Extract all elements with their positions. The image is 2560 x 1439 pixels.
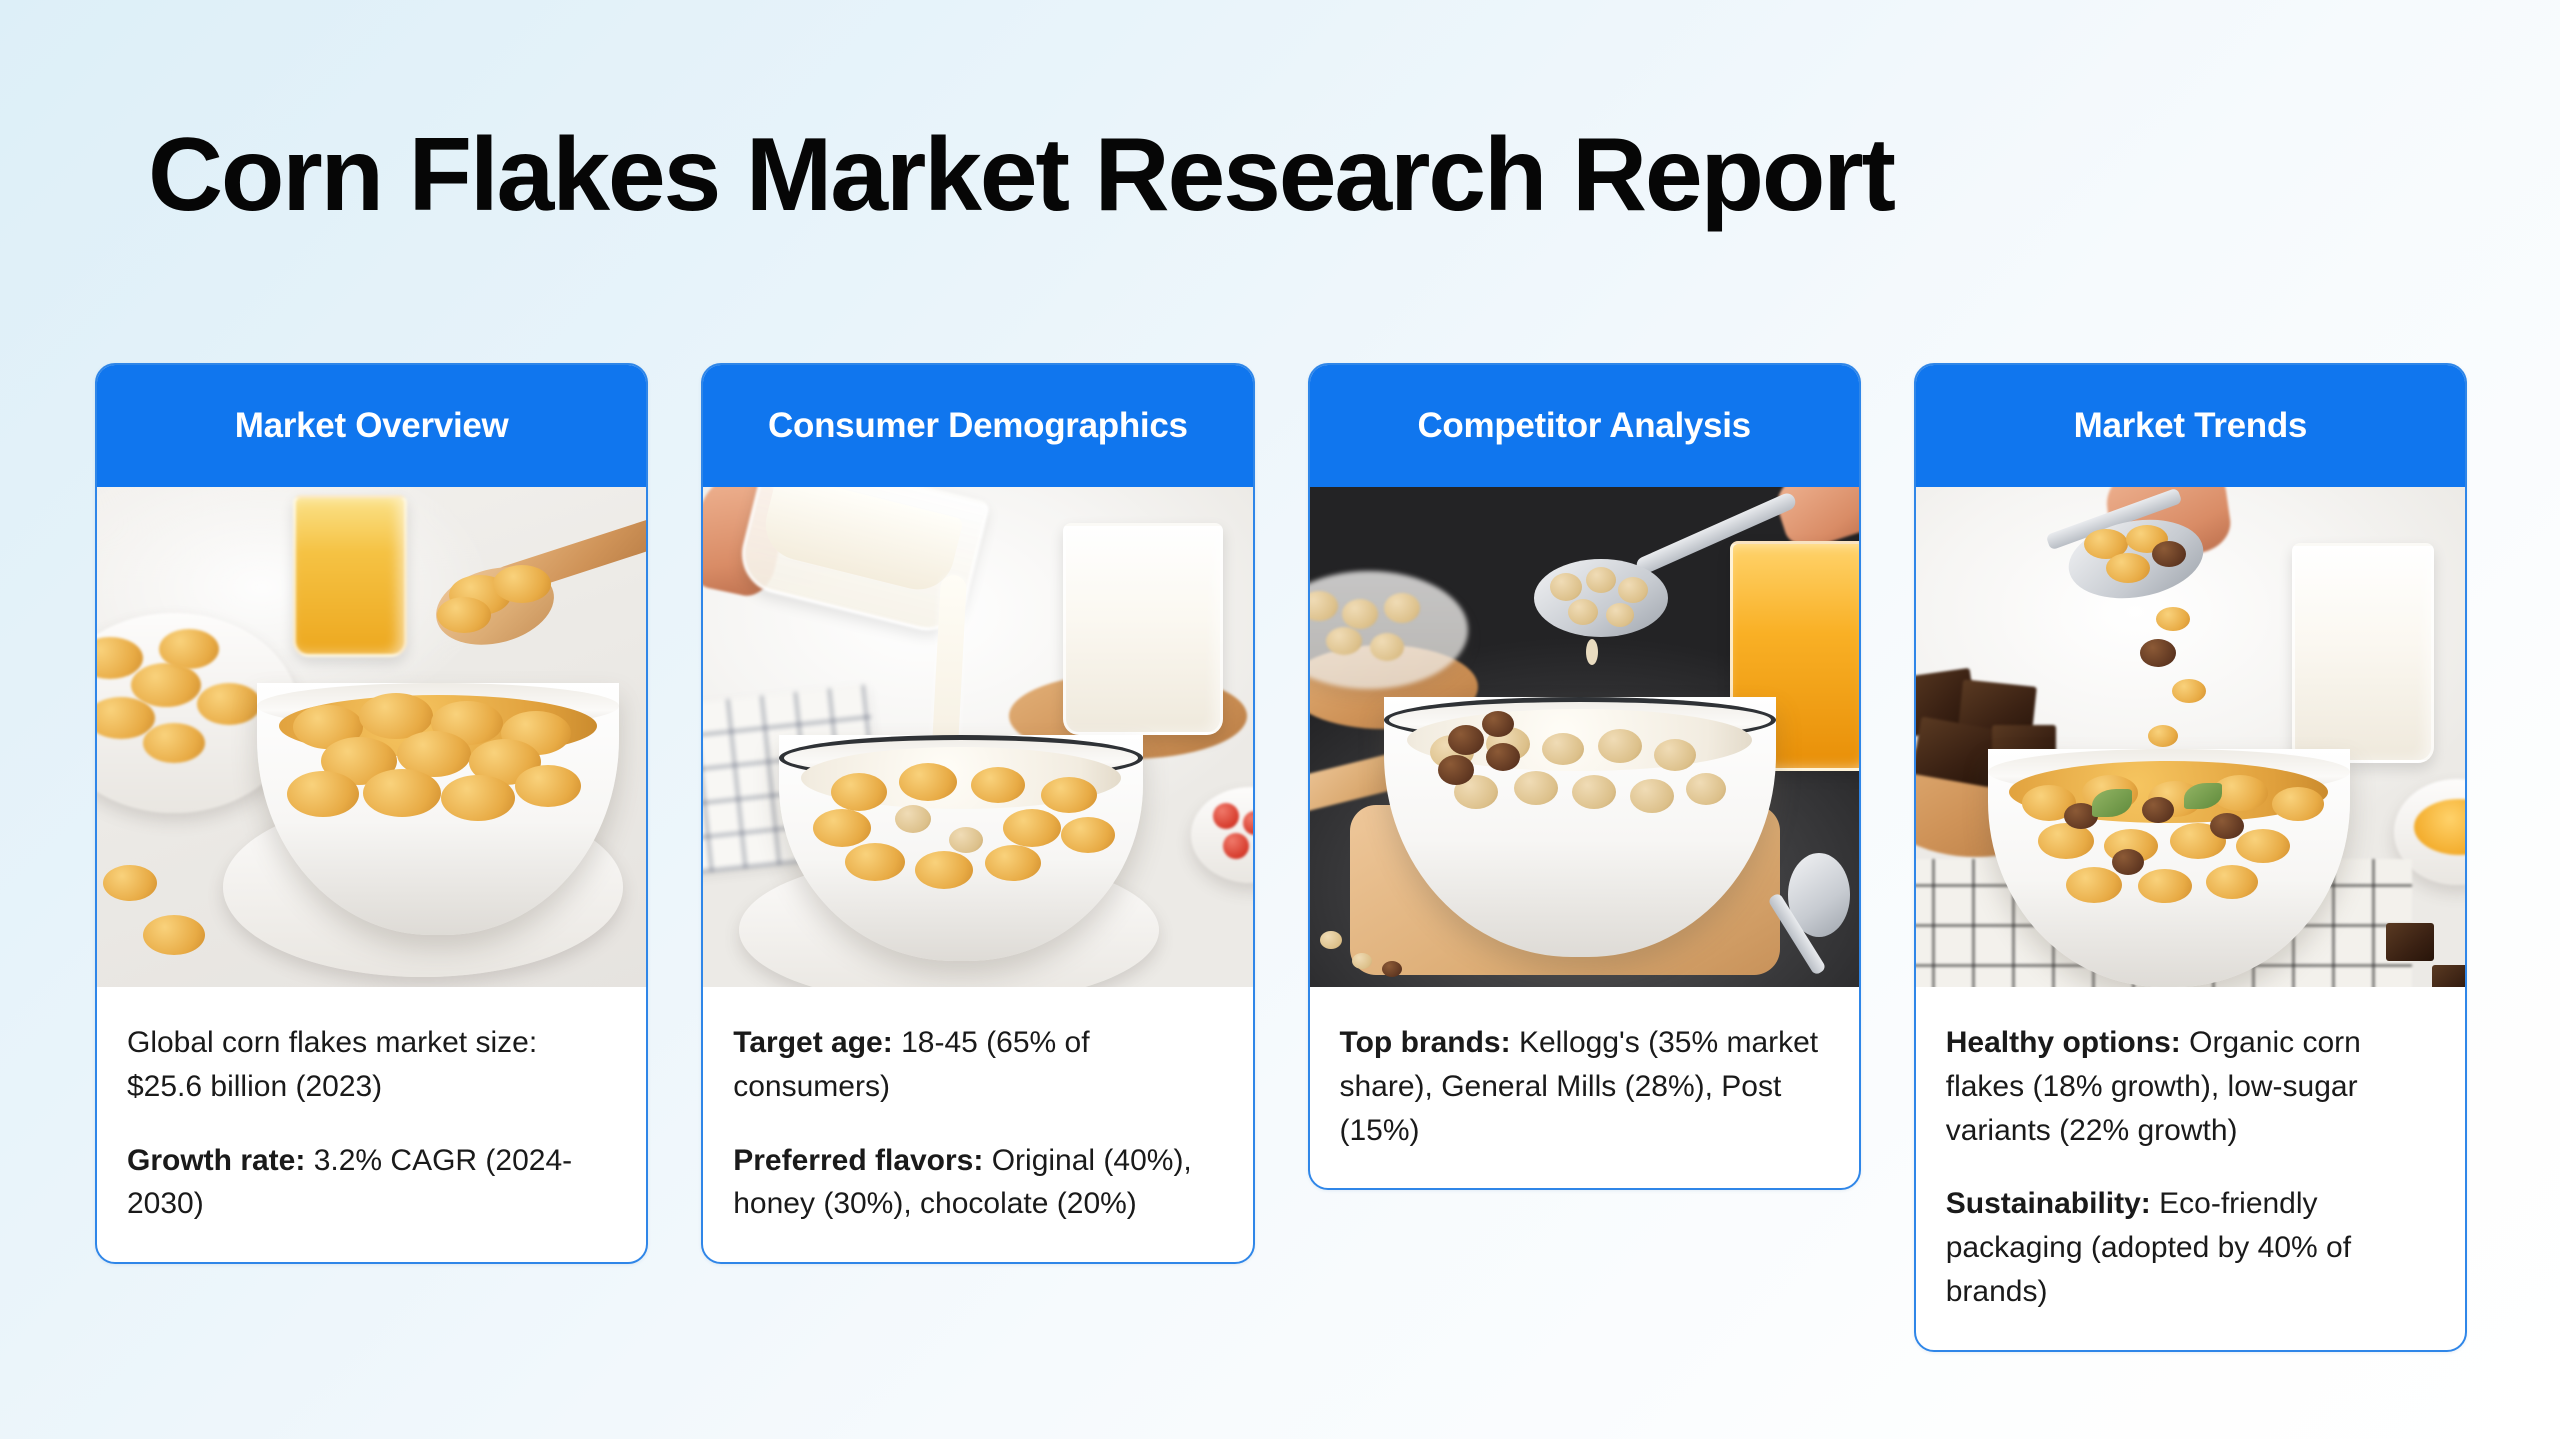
card-competitor-analysis[interactable]: Competitor Analysis bbox=[1308, 363, 1861, 1190]
card-header-competitor-analysis: Competitor Analysis bbox=[1310, 365, 1859, 487]
card-market-overview[interactable]: Market Overview bbox=[95, 363, 648, 1264]
card-photo-market-trends bbox=[1916, 487, 2465, 987]
card-header-consumer-demographics: Consumer Demographics bbox=[703, 365, 1252, 487]
fact-0: Global corn flakes market size: $25.6 bi… bbox=[127, 1021, 616, 1109]
card-photo-competitor-analysis bbox=[1310, 487, 1859, 987]
card-consumer-demographics[interactable]: Consumer Demographics bbox=[701, 363, 1254, 1264]
fact-1: Growth rate: 3.2% CAGR (2024-2030) bbox=[127, 1139, 616, 1227]
fact-1: Preferred flavors: Original (40%), honey… bbox=[733, 1139, 1222, 1227]
fact-0: Top brands: Kellogg's (35% market share)… bbox=[1340, 1021, 1829, 1152]
card-photo-market-overview bbox=[97, 487, 646, 987]
card-photo-consumer-demographics bbox=[703, 487, 1252, 987]
card-header-market-overview: Market Overview bbox=[97, 365, 646, 487]
card-body-competitor-analysis: Top brands: Kellogg's (35% market share)… bbox=[1310, 987, 1859, 1188]
card-body-market-trends: Healthy options: Organic corn flakes (18… bbox=[1916, 987, 2465, 1350]
cards-row: Market Overview bbox=[95, 363, 2467, 1352]
card-body-market-overview: Global corn flakes market size: $25.6 bi… bbox=[97, 987, 646, 1262]
fact-0: Healthy options: Organic corn flakes (18… bbox=[1946, 1021, 2435, 1152]
card-header-market-trends: Market Trends bbox=[1916, 365, 2465, 487]
fact-0: Target age: 18-45 (65% of consumers) bbox=[733, 1021, 1222, 1109]
fact-1: Sustainability: Eco-friendly packaging (… bbox=[1946, 1182, 2435, 1313]
card-market-trends[interactable]: Market Trends bbox=[1914, 363, 2467, 1352]
card-body-consumer-demographics: Target age: 18-45 (65% of consumers) Pre… bbox=[703, 987, 1252, 1262]
page-title: Corn Flakes Market Research Report bbox=[148, 118, 1894, 232]
